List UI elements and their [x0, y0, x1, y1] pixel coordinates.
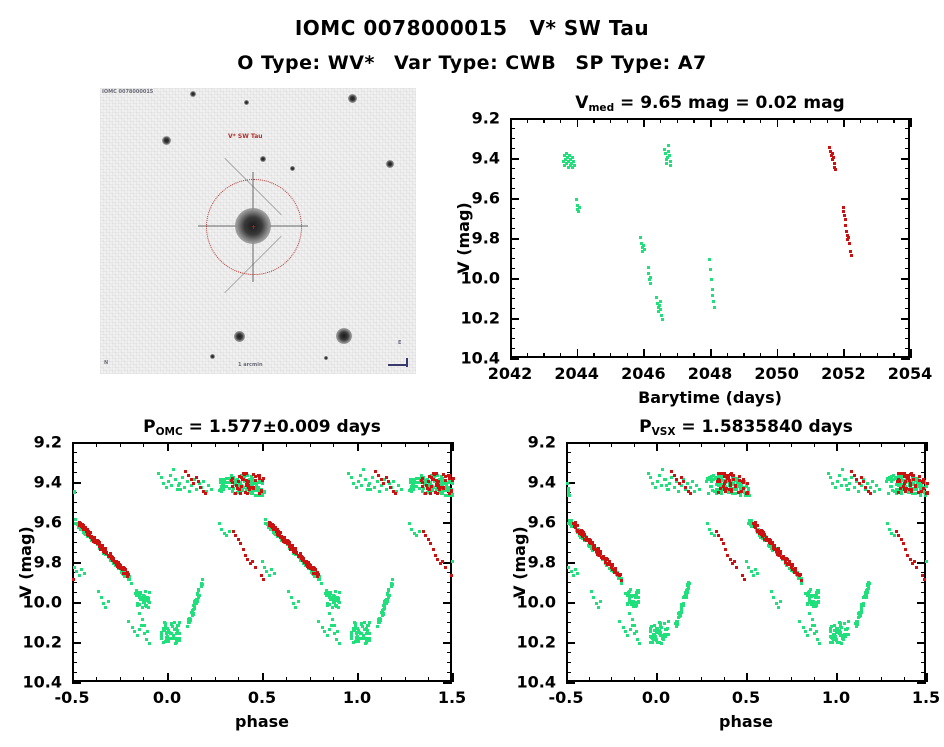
data-point	[421, 477, 424, 480]
y-tick-label: 9.8	[528, 553, 556, 572]
data-point	[733, 560, 736, 563]
axis-tick	[72, 592, 77, 593]
data-point	[127, 620, 130, 623]
data-point	[408, 522, 411, 525]
data-point	[707, 492, 710, 495]
data-point	[361, 637, 364, 640]
axis-tick	[910, 349, 912, 358]
axis-tick	[611, 442, 612, 447]
data-point	[720, 538, 723, 541]
data-point	[187, 474, 190, 477]
data-point	[452, 477, 455, 480]
data-point	[261, 482, 264, 485]
data-point	[447, 486, 450, 489]
data-point	[240, 476, 243, 479]
axis-tick	[566, 532, 571, 533]
data-point	[357, 629, 360, 632]
data-point	[145, 638, 148, 641]
data-point	[847, 633, 850, 636]
data-point	[130, 582, 133, 585]
axis-tick	[447, 622, 452, 623]
axis-tick	[72, 612, 77, 613]
axis-tick	[727, 118, 728, 123]
axis-tick	[72, 502, 77, 503]
axis-tick	[443, 602, 452, 604]
data-point	[356, 635, 359, 638]
axis-tick	[577, 118, 579, 127]
x-tick-label: 1.5	[912, 688, 940, 707]
y-tick-label: 9.2	[34, 433, 62, 452]
data-point	[123, 572, 126, 575]
axis-tick	[905, 248, 910, 249]
axis-tick	[191, 677, 192, 682]
data-point	[597, 606, 600, 609]
axis-tick	[905, 338, 910, 339]
data-point	[576, 572, 579, 575]
data-point	[715, 530, 718, 533]
fits-field-image[interactable]: + V* SW Tau IOMC 0078000015 1 arcmin N E	[100, 88, 416, 374]
data-point	[357, 640, 360, 643]
axis-tick	[921, 632, 926, 633]
data-point	[720, 492, 723, 495]
data-point	[232, 530, 235, 533]
data-point	[737, 491, 740, 494]
data-point	[380, 478, 383, 481]
data-point	[838, 621, 841, 624]
data-point	[251, 560, 254, 563]
axis-tick	[72, 452, 77, 453]
data-point	[834, 168, 837, 171]
y-tick-label: 9.4	[472, 149, 500, 168]
axis-tick	[921, 652, 926, 653]
data-point	[633, 624, 636, 627]
data-point	[160, 637, 163, 640]
data-point	[813, 601, 816, 604]
data-point	[169, 474, 172, 477]
data-point	[328, 612, 331, 615]
data-point	[321, 626, 324, 629]
axis-tick	[921, 572, 926, 573]
axis-tick	[566, 592, 571, 593]
axis-tick	[566, 622, 571, 623]
data-point	[685, 589, 688, 592]
axis-tick	[905, 128, 910, 129]
axis-tick	[877, 118, 878, 123]
data-point	[706, 522, 709, 525]
data-point	[887, 492, 890, 495]
axis-tick	[643, 349, 645, 358]
axis-tick	[901, 198, 910, 200]
data-point	[326, 634, 329, 637]
data-point	[917, 491, 920, 494]
data-point	[726, 474, 729, 477]
axis-tick	[901, 278, 910, 280]
data-point	[675, 478, 678, 481]
data-point	[239, 542, 242, 545]
axis-tick	[72, 652, 77, 653]
data-point	[179, 488, 182, 491]
data-point	[926, 491, 929, 494]
data-point	[828, 146, 831, 149]
axis-tick	[746, 673, 748, 682]
axis-tick	[793, 118, 794, 123]
axis-tick	[777, 349, 779, 358]
data-point	[658, 621, 661, 624]
axis-tick	[566, 552, 571, 553]
data-point	[597, 547, 600, 550]
data-point	[254, 479, 257, 482]
data-point	[376, 625, 379, 628]
axis-tick	[677, 118, 678, 123]
data-point	[440, 492, 443, 495]
data-point	[860, 608, 863, 611]
data-point	[427, 538, 430, 541]
axis-tick	[589, 442, 590, 447]
data-point	[257, 474, 260, 477]
axis-tick	[610, 353, 611, 358]
data-point	[656, 480, 659, 483]
axis-tick	[447, 532, 452, 533]
field-star	[386, 160, 394, 168]
data-point	[74, 518, 77, 521]
data-point	[738, 479, 741, 482]
field-star	[324, 356, 328, 360]
data-point	[360, 623, 363, 626]
data-point	[765, 536, 768, 539]
axis-tick	[634, 442, 635, 447]
data-point	[415, 481, 418, 484]
data-point	[311, 568, 314, 571]
axis-tick	[917, 682, 926, 684]
data-point	[591, 541, 594, 544]
data-point	[871, 480, 874, 483]
data-point	[374, 470, 377, 473]
data-point	[914, 485, 917, 488]
data-point	[574, 526, 577, 529]
data-point	[624, 630, 627, 633]
axis-tick	[881, 442, 882, 447]
data-point	[430, 485, 433, 488]
data-point	[796, 572, 799, 575]
data-point	[415, 534, 418, 537]
axis-tick	[510, 278, 519, 280]
data-point	[188, 490, 191, 493]
axis-tick	[72, 532, 77, 533]
data-point	[710, 485, 713, 488]
axis-tick	[72, 482, 81, 484]
data-point	[573, 164, 576, 167]
data-point	[144, 590, 147, 593]
y-tick-label: 10.2	[461, 309, 500, 328]
data-point	[432, 472, 435, 475]
data-point	[866, 482, 869, 485]
axis-tick	[447, 542, 452, 543]
axis-tick	[904, 442, 905, 447]
data-point	[639, 236, 642, 239]
data-point	[750, 570, 753, 573]
data-point	[673, 474, 676, 477]
data-point	[138, 612, 141, 615]
data-point	[628, 612, 631, 615]
data-point	[726, 554, 729, 557]
axis-tick	[120, 677, 121, 682]
data-point	[234, 492, 237, 495]
axis-tick	[527, 118, 528, 123]
data-point	[853, 474, 856, 477]
axis-tick	[746, 442, 748, 451]
axis-tick	[447, 632, 452, 633]
data-point	[845, 484, 848, 487]
data-point	[135, 589, 138, 592]
data-point	[909, 484, 912, 487]
data-point	[377, 474, 380, 477]
data-point	[451, 560, 454, 563]
data-point	[578, 530, 581, 533]
axis-tick	[905, 308, 910, 309]
axis-tick	[510, 128, 515, 129]
axis-tick	[510, 338, 515, 339]
data-point	[141, 618, 144, 621]
axis-tick	[333, 442, 334, 447]
data-point	[218, 522, 221, 525]
data-point	[813, 624, 816, 627]
data-point	[574, 568, 577, 571]
sptype-value: A7	[678, 52, 707, 74]
data-point	[677, 490, 680, 493]
axis-tick	[905, 168, 910, 169]
data-point	[611, 564, 614, 567]
axis-tick	[610, 118, 611, 123]
axis-tick	[333, 677, 334, 682]
axis-tick	[566, 682, 575, 684]
data-point	[323, 630, 326, 633]
data-point	[842, 206, 845, 209]
otype-label: O Type:	[237, 52, 320, 74]
data-point	[734, 485, 737, 488]
data-point	[869, 492, 872, 495]
data-point	[712, 300, 715, 303]
data-point	[103, 549, 106, 552]
data-point	[448, 492, 451, 495]
data-point	[806, 634, 809, 637]
axis-tick	[921, 462, 926, 463]
data-point	[740, 490, 743, 493]
axis-tick	[921, 532, 926, 533]
data-point	[102, 602, 105, 605]
axis-tick	[560, 353, 561, 358]
data-point	[926, 482, 929, 485]
axis-tick	[120, 442, 121, 447]
axis-tick	[893, 118, 894, 123]
data-point	[897, 491, 900, 494]
axis-tick	[443, 522, 452, 524]
axis-tick	[724, 442, 725, 447]
data-point	[360, 484, 363, 487]
axis-tick	[656, 673, 658, 682]
data-point	[833, 624, 836, 627]
axis-tick	[510, 188, 515, 189]
axis-tick	[793, 353, 794, 358]
data-point	[306, 565, 309, 568]
data-point	[429, 542, 432, 545]
axis-tick	[510, 178, 515, 179]
axis-tick	[447, 462, 452, 463]
data-point	[220, 490, 223, 493]
data-point	[768, 545, 771, 548]
axis-tick	[72, 562, 81, 564]
data-point	[680, 476, 683, 479]
data-point	[798, 620, 801, 623]
data-point	[183, 486, 186, 489]
axis-tick	[921, 542, 926, 543]
sptype-label: SP Type:	[575, 52, 670, 74]
data-point	[244, 491, 247, 494]
data-point	[186, 480, 189, 483]
lightcurve-timeseries-plot[interactable]: Vmed = 9.65 mag = 0.02 mag20422044204620…	[510, 118, 910, 358]
data-point	[121, 568, 124, 571]
data-point	[170, 484, 173, 487]
axis-tick	[310, 442, 311, 447]
axis-tick	[543, 353, 544, 358]
data-point	[754, 526, 757, 529]
data-point	[277, 531, 280, 534]
data-point	[836, 480, 839, 483]
axis-tick	[905, 138, 910, 139]
data-point	[777, 606, 780, 609]
data-point	[78, 574, 81, 577]
data-point	[844, 218, 847, 221]
data-point	[136, 603, 139, 606]
data-point	[683, 596, 686, 599]
data-point	[643, 248, 646, 251]
data-point	[350, 633, 353, 636]
data-point	[869, 486, 872, 489]
data-point	[365, 627, 368, 630]
data-point	[144, 604, 147, 607]
data-point	[174, 478, 177, 481]
data-point	[190, 478, 193, 481]
axis-tick	[627, 118, 628, 123]
axis-tick	[72, 552, 77, 553]
axis-tick	[743, 118, 744, 123]
axis-tick	[566, 602, 575, 604]
data-point	[837, 641, 840, 644]
field-star	[234, 331, 245, 342]
x-tick-label: 2054	[888, 364, 933, 383]
x-tick-label: 2050	[754, 364, 799, 383]
data-point	[875, 484, 878, 487]
phase-plot-vsx[interactable]: PVSX = 1.5835840 days-0.50.00.51.01.59.2…	[566, 442, 926, 682]
data-point	[633, 601, 636, 604]
data-point	[742, 487, 745, 490]
data-point	[735, 566, 738, 569]
data-point	[231, 477, 234, 480]
data-point	[895, 530, 898, 533]
data-point	[847, 236, 850, 239]
data-point	[710, 278, 713, 281]
data-point	[864, 486, 867, 489]
field-star	[348, 94, 357, 103]
axis-tick	[777, 118, 779, 127]
data-point	[711, 288, 714, 291]
axis-tick	[634, 677, 635, 682]
axis-tick	[905, 228, 910, 229]
axis-tick	[72, 602, 81, 604]
phase-plot-omc[interactable]: POMC = 1.577±0.009 days-0.50.00.51.01.59…	[72, 442, 452, 682]
data-point	[268, 574, 271, 577]
data-point	[840, 484, 843, 487]
data-point	[833, 633, 836, 636]
data-point	[655, 629, 658, 632]
data-point	[738, 475, 741, 478]
data-point	[438, 488, 441, 491]
data-point	[775, 602, 778, 605]
axis-tick	[810, 353, 811, 358]
data-point	[195, 476, 198, 479]
axis-tick	[510, 298, 515, 299]
data-point	[244, 554, 247, 557]
x-tick-label: 2052	[821, 364, 866, 383]
data-point	[663, 633, 666, 636]
axis-tick	[566, 652, 571, 653]
data-point	[850, 254, 853, 257]
data-point	[163, 621, 166, 624]
axis-tick	[191, 442, 192, 447]
axis-tick	[167, 673, 169, 682]
data-point	[567, 489, 570, 492]
data-point	[833, 638, 836, 641]
data-point	[177, 484, 180, 487]
data-point	[686, 482, 689, 485]
axis-tick	[791, 442, 792, 447]
axis-tick	[510, 358, 519, 360]
data-point	[909, 558, 912, 561]
data-point	[772, 596, 775, 599]
axis-tick	[510, 248, 515, 249]
data-point	[922, 481, 925, 484]
data-point	[84, 526, 87, 529]
axis-tick	[72, 442, 81, 444]
data-point	[904, 548, 907, 551]
scale-bar	[388, 364, 406, 366]
data-point	[620, 579, 623, 582]
data-point	[731, 474, 734, 477]
data-point	[660, 484, 663, 487]
data-point	[920, 490, 923, 493]
data-point	[201, 578, 204, 581]
data-point	[383, 607, 386, 610]
axis-tick	[679, 677, 680, 682]
data-point	[638, 642, 641, 645]
data-point	[373, 486, 376, 489]
data-point	[294, 606, 297, 609]
y-tick-label: 9.6	[528, 513, 556, 532]
axis-tick	[443, 442, 452, 444]
data-point	[422, 530, 425, 533]
data-point	[133, 630, 136, 633]
axis-tick	[543, 118, 544, 123]
axis-tick	[143, 442, 144, 447]
data-point	[100, 596, 103, 599]
axis-tick	[881, 677, 882, 682]
data-point	[362, 468, 365, 471]
data-point	[595, 602, 598, 605]
data-point	[228, 530, 231, 533]
data-point	[367, 484, 370, 487]
axis-tick	[921, 662, 926, 663]
axis-tick	[905, 258, 910, 259]
object-classification: O Type: WV* Var Type: CWB SP Type: A7	[0, 52, 944, 74]
